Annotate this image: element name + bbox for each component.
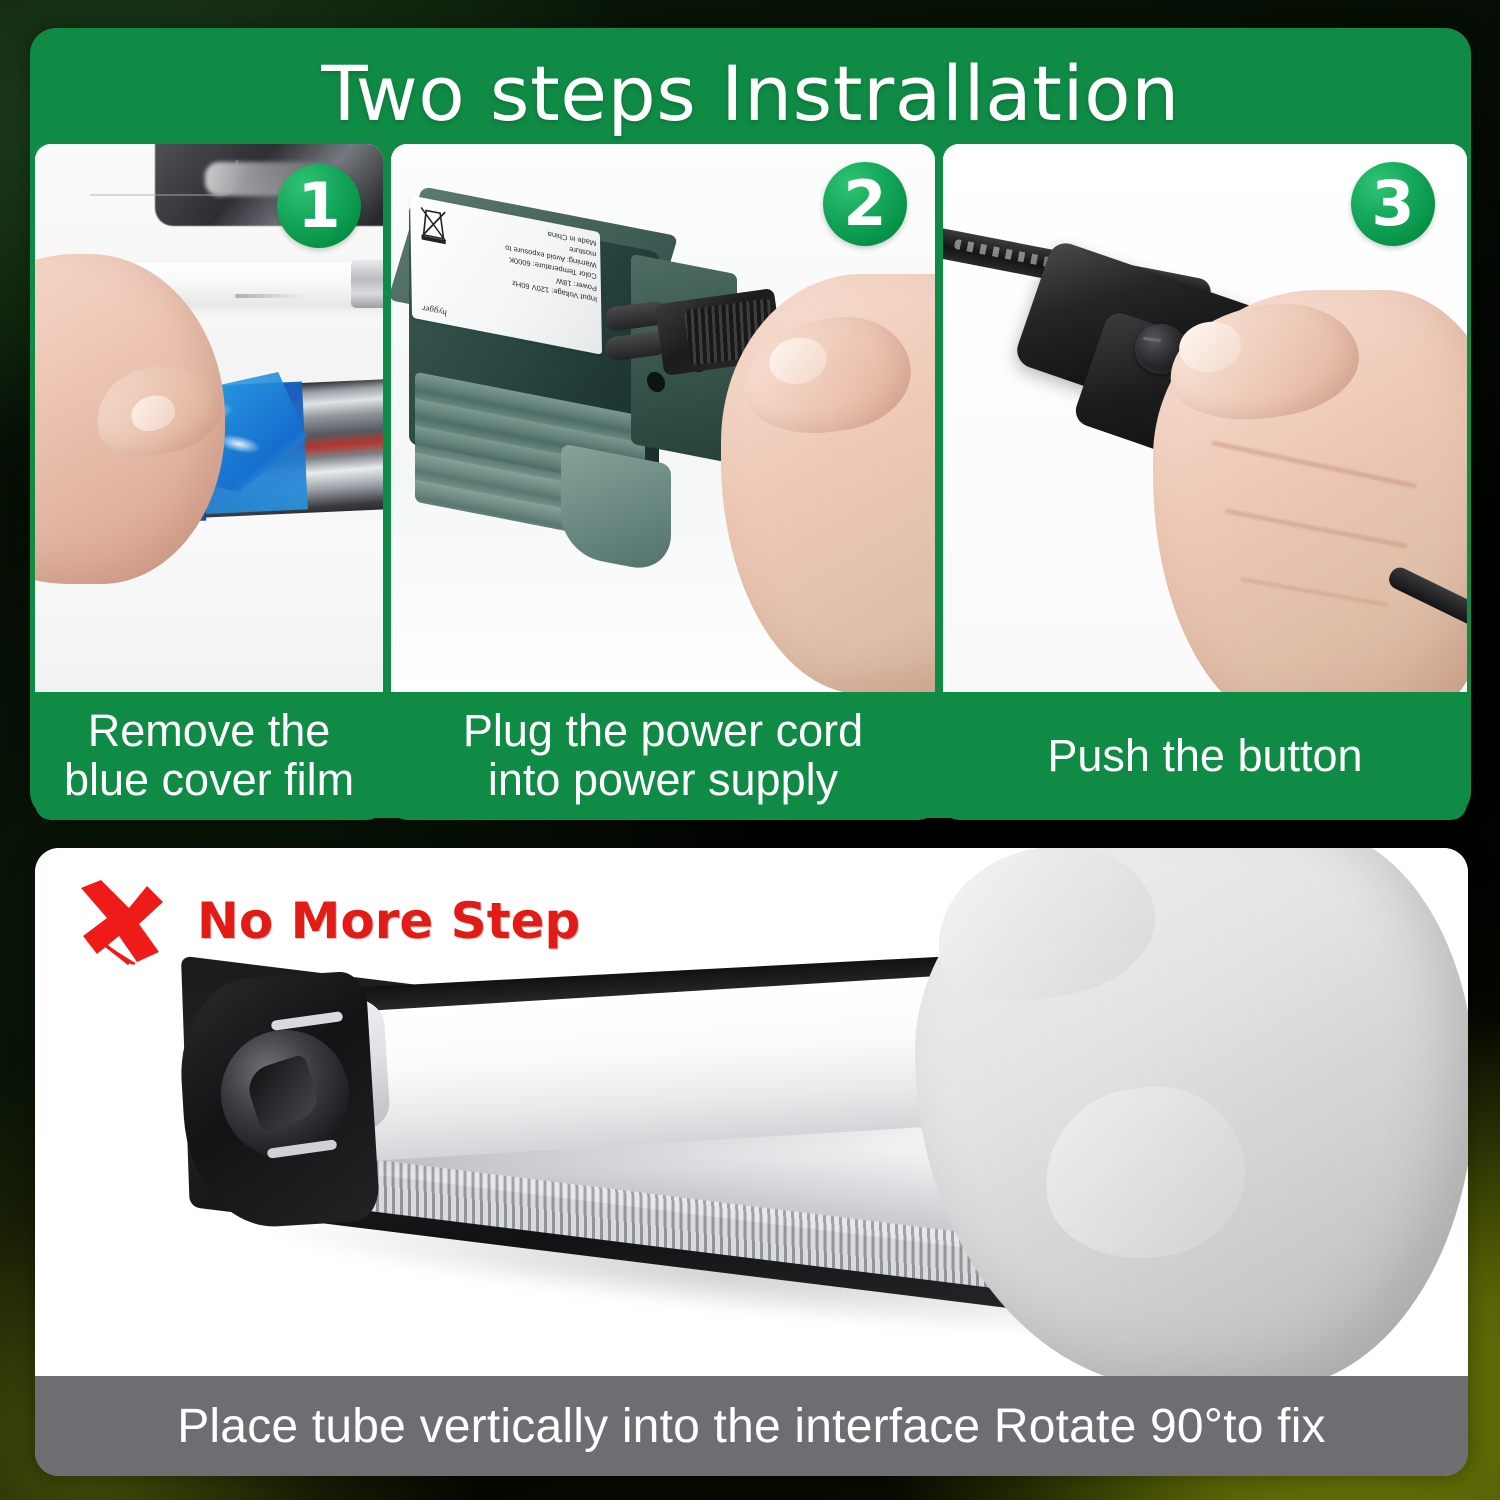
page-title: Two steps Instrallation [30, 38, 1471, 148]
installation-steps-card: Two steps Instrallation [30, 28, 1471, 818]
step-number-badge-3: 3 [1351, 162, 1435, 246]
step-2-caption-line1: Plug the power cord [463, 705, 863, 756]
tube-end-cap [351, 260, 383, 308]
step-number-badge-1: 1 [277, 164, 361, 248]
bag-edge [90, 160, 238, 196]
step-panel-2[interactable]: Input Voltage: 120V 60Hz Power: 18W Colo… [391, 144, 935, 820]
bottom-photo: No More Step [35, 848, 1468, 1376]
step-2-photo: Input Voltage: 120V 60Hz Power: 18W Colo… [391, 144, 935, 692]
step-panel-1[interactable]: 1 Remove the blue cover film [35, 144, 383, 820]
step-2-caption-text: Plug the power cord into power supply [463, 707, 863, 804]
step-3-caption: Push the button [943, 692, 1467, 820]
brand-wordmark: hygger [422, 304, 447, 319]
steps-panel-row: 1 Remove the blue cover film [30, 144, 1471, 820]
step-1-caption: Remove the blue cover film [35, 692, 383, 820]
no-more-step-badge: No More Step [71, 874, 580, 968]
step-2-caption: Plug the power cord into power supply [391, 692, 935, 820]
tube-marking [235, 294, 305, 298]
bottom-caption-bar: Place tube vertically into the interface… [35, 1376, 1468, 1476]
power-supply-foot [561, 443, 671, 574]
step-3-photo: 3 [943, 144, 1467, 692]
step-1-caption-line1: Remove the [88, 705, 331, 756]
step-1-caption-text: Remove the blue cover film [64, 707, 354, 804]
step-3-caption-line1: Push the button [1047, 732, 1362, 781]
no-more-step-card: No More Step Place tube vertically into … [35, 848, 1468, 1476]
no-more-step-label: No More Step [197, 892, 580, 950]
poster-canvas: Two steps Instrallation [0, 0, 1500, 1500]
step-panel-3[interactable]: 3 Push the button [943, 144, 1467, 820]
step-number-badge-2: 2 [823, 162, 907, 246]
step-1-photo: 1 [35, 144, 383, 692]
step-2-caption-line2: into power supply [488, 754, 838, 805]
bottom-caption-text: Place tube vertically into the interface… [177, 1399, 1326, 1454]
step-1-caption-line2: blue cover film [64, 754, 354, 805]
red-cross-icon [71, 874, 175, 968]
